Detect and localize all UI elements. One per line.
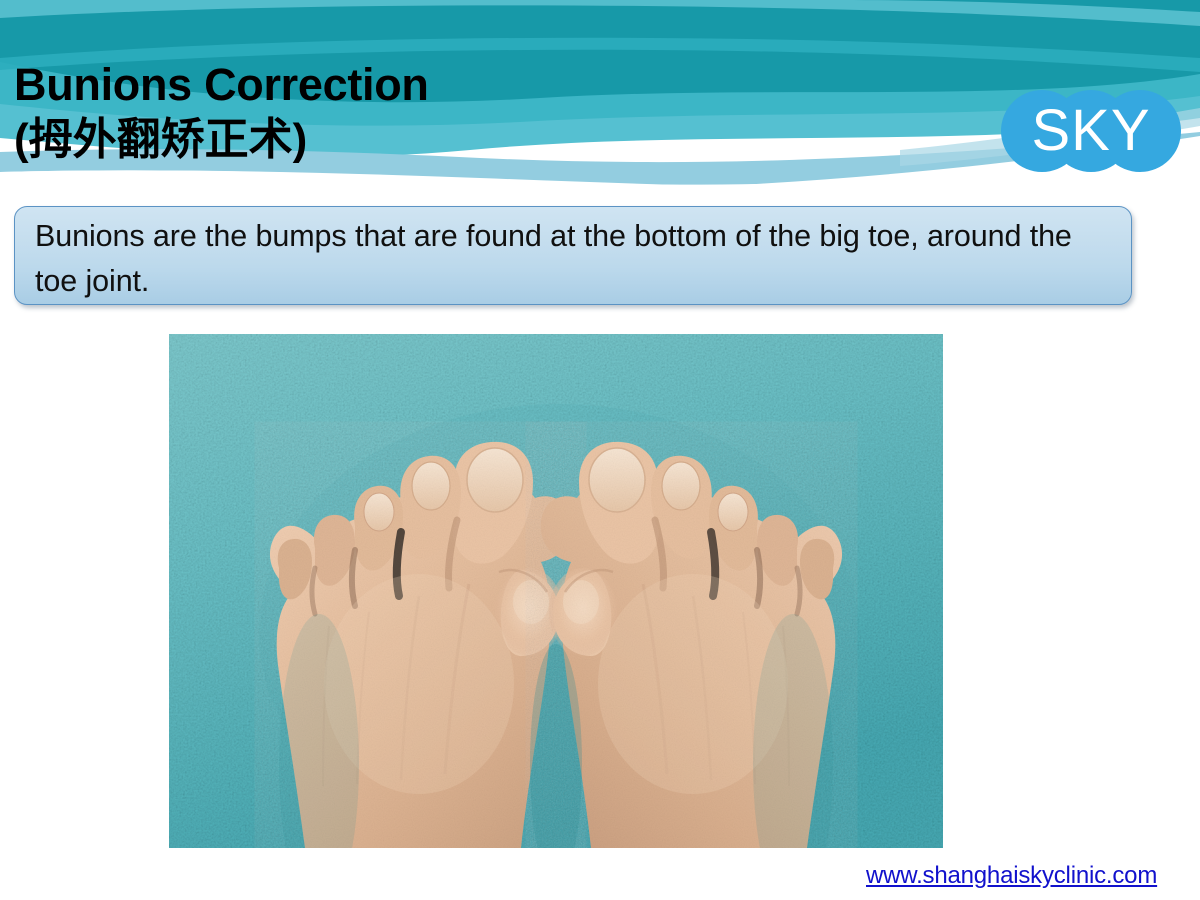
svg-text:SKY: SKY — [1031, 98, 1150, 163]
presentation-slide: Bunions Correction (拇外翻矫正术) SKY Bunions … — [0, 0, 1200, 900]
slide-title-english: Bunions Correction — [14, 57, 734, 112]
slide-title: Bunions Correction (拇外翻矫正术) — [14, 57, 734, 167]
body-text: Bunions are the bumps that are found at … — [35, 214, 1113, 304]
feet-photo — [169, 334, 943, 848]
website-link[interactable]: www.shanghaiskyclinic.com — [866, 862, 1157, 890]
slide-title-chinese: (拇外翻矫正术) — [14, 112, 734, 167]
sky-logo: SKY — [998, 90, 1184, 172]
body-text-callout: Bunions are the bumps that are found at … — [14, 206, 1132, 305]
